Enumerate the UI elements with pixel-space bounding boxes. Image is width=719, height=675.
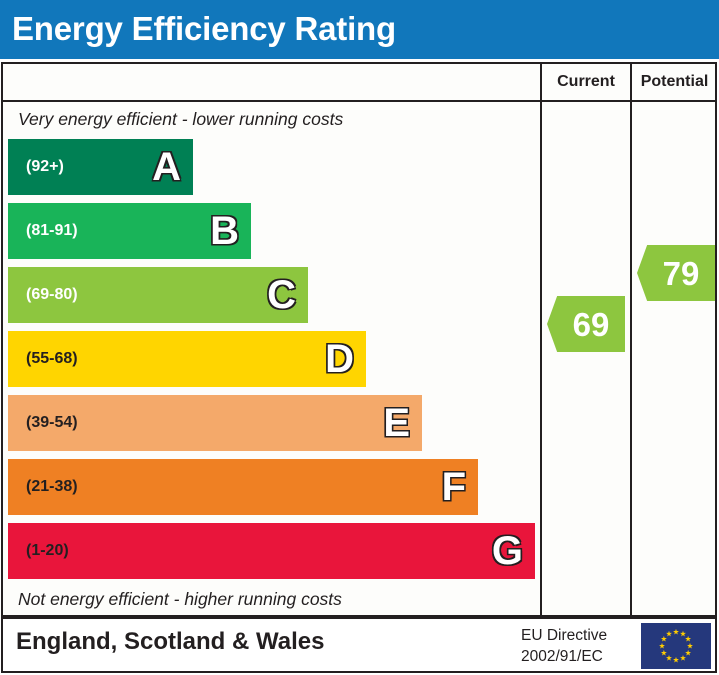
column-header-current: Current (542, 70, 630, 94)
band-letter-d: D (325, 339, 354, 379)
eu-directive-line1: EU Directive (521, 625, 631, 646)
header-separator (1, 100, 717, 102)
rating-band-d: (55-68)D (8, 331, 366, 387)
rating-band-f: (21-38)F (8, 459, 478, 515)
rating-band-c: (69-80)C (8, 267, 308, 323)
column-header-potential: Potential (632, 70, 717, 94)
band-letter-c: C (267, 275, 296, 315)
footer-region-label: England, Scotland & Wales (16, 628, 324, 656)
title-bar: Energy Efficiency Rating (0, 0, 719, 59)
marker-current: 69 (547, 296, 625, 352)
band-letter-g: G (492, 531, 523, 571)
eu-directive-line2: 2002/91/EC (521, 646, 631, 667)
rating-band-a: (92+)A (8, 139, 193, 195)
rating-band-g: (1-20)G (8, 523, 535, 579)
band-letter-f: F (442, 467, 466, 507)
marker-value-current: 69 (563, 308, 610, 341)
caption-not-efficient: Not energy efficient - higher running co… (18, 589, 342, 610)
rating-band-b: (81-91)B (8, 203, 251, 259)
band-range-c: (69-80) (26, 286, 78, 304)
band-range-a: (92+) (26, 158, 64, 176)
band-range-g: (1-20) (26, 542, 69, 560)
band-letter-e: E (383, 403, 410, 443)
band-range-d: (55-68) (26, 350, 78, 368)
marker-value-potential: 79 (653, 257, 700, 290)
rating-band-e: (39-54)E (8, 395, 422, 451)
caption-very-efficient: Very energy efficient - lower running co… (18, 109, 343, 130)
band-range-b: (81-91) (26, 222, 78, 240)
band-letter-a: A (152, 147, 181, 187)
band-range-e: (39-54) (26, 414, 78, 432)
marker-potential: 79 (637, 245, 715, 301)
band-letter-b: B (210, 211, 239, 251)
column-divider-potential (630, 62, 632, 617)
epc-certificate: Energy Efficiency Rating Current Potenti… (0, 0, 719, 675)
column-divider-current (540, 62, 542, 617)
page-title: Energy Efficiency Rating (12, 6, 396, 51)
eu-flag-icon (641, 623, 711, 669)
band-range-f: (21-38) (26, 478, 78, 496)
eu-directive-label: EU Directive 2002/91/EC (521, 625, 631, 667)
